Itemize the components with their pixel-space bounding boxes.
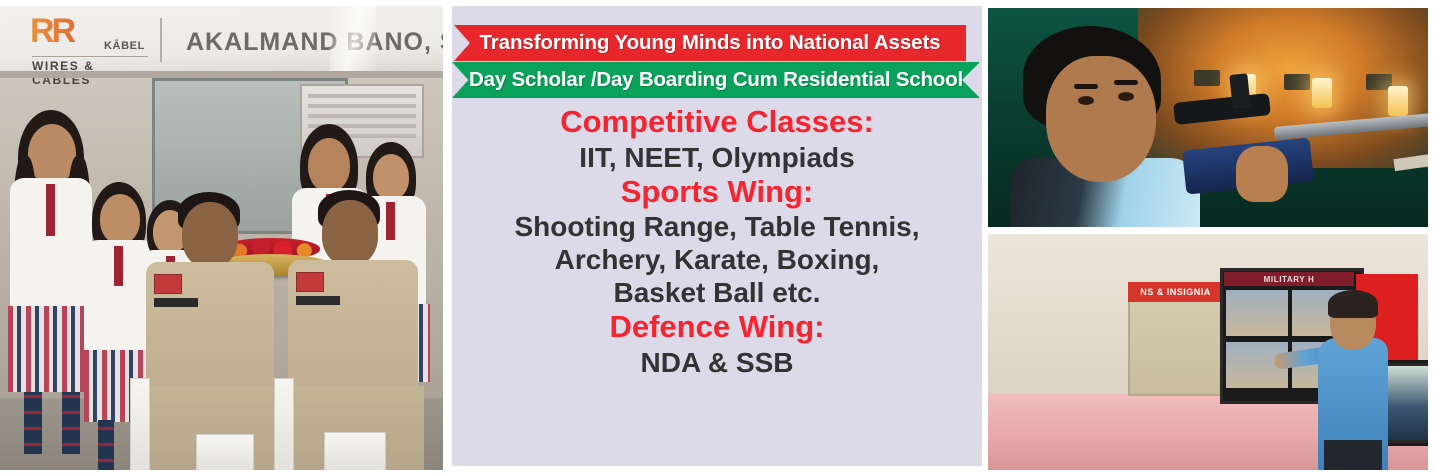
rr-kabel-logo: RR KĀBEL WIRES & CABLES bbox=[30, 14, 150, 48]
shooter-face bbox=[1046, 56, 1156, 182]
instructor-trousers bbox=[1324, 440, 1382, 470]
shooter-brow-right bbox=[1114, 80, 1138, 85]
signboard-divider bbox=[160, 18, 162, 62]
section-item-competitive-0: IIT, NEET, Olympiads bbox=[452, 141, 982, 174]
center-text-panel: Transforming Young Minds into National A… bbox=[452, 6, 982, 466]
offerings-list: Competitive Classes: IIT, NEET, Olympiad… bbox=[452, 104, 982, 379]
ribbon-tagline-bottom: Day Scholar /Day Boarding Cum Residentia… bbox=[452, 62, 980, 98]
insignia-panel-label: NS & INSIGNIA bbox=[1128, 282, 1223, 302]
advertisement-banner: RR KĀBEL WIRES & CABLES AKALMAND BANO, S… bbox=[0, 0, 1434, 474]
instructor-hair bbox=[1328, 290, 1378, 318]
section-item-defence-0: NDA & SSB bbox=[452, 346, 982, 379]
ribbon-tagline-bottom-text: Day Scholar /Day Boarding Cum Residentia… bbox=[469, 68, 963, 92]
section-item-sports-2: Basket Ball etc. bbox=[452, 276, 982, 309]
rr-logo-subtitle: WIRES & CABLES bbox=[32, 59, 150, 87]
range-lamp-2 bbox=[1312, 78, 1332, 108]
shop-signboard: RR KĀBEL WIRES & CABLES AKALMAND BANO, S… bbox=[0, 6, 443, 78]
section-heading-sports: Sports Wing: bbox=[452, 174, 982, 211]
ribbon-tagline-top-text: Transforming Young Minds into National A… bbox=[480, 31, 941, 55]
shooter-brow-left bbox=[1074, 84, 1098, 89]
signboard-glare bbox=[330, 6, 376, 78]
range-lamp-3 bbox=[1388, 86, 1408, 116]
framed-photo-1 bbox=[1226, 290, 1288, 336]
signboard-banner-text: AKALMAND BANO, SA bbox=[186, 28, 443, 57]
section-item-sports-0: Shooting Range, Table Tennis, bbox=[452, 210, 982, 243]
shooter-eye-left bbox=[1078, 96, 1094, 105]
military-panel-label: MILITARY H bbox=[1224, 272, 1354, 286]
rr-logo-kabel-text: KĀBEL bbox=[104, 40, 145, 52]
section-heading-competitive: Competitive Classes: bbox=[452, 104, 982, 141]
shooter-eye-right bbox=[1118, 92, 1134, 101]
section-heading-defence: Defence Wing: bbox=[452, 309, 982, 346]
range-lamp-box-2 bbox=[1284, 74, 1310, 90]
photo-shooting-range bbox=[988, 8, 1428, 227]
range-lamp-box-1 bbox=[1194, 70, 1220, 86]
ribbon-tagline-top: Transforming Young Minds into National A… bbox=[454, 25, 966, 61]
logo-divider-line bbox=[32, 56, 148, 57]
rifle-front-sight bbox=[1229, 73, 1250, 109]
photo-students-with-officers: RR KĀBEL WIRES & CABLES AKALMAND BANO, S… bbox=[0, 6, 443, 470]
shooter-hand bbox=[1236, 146, 1288, 202]
photo-military-display-tour: NS & INSIGNIA MILITARY H bbox=[988, 234, 1428, 470]
section-item-sports-1: Archery, Karate, Boxing, bbox=[452, 243, 982, 276]
